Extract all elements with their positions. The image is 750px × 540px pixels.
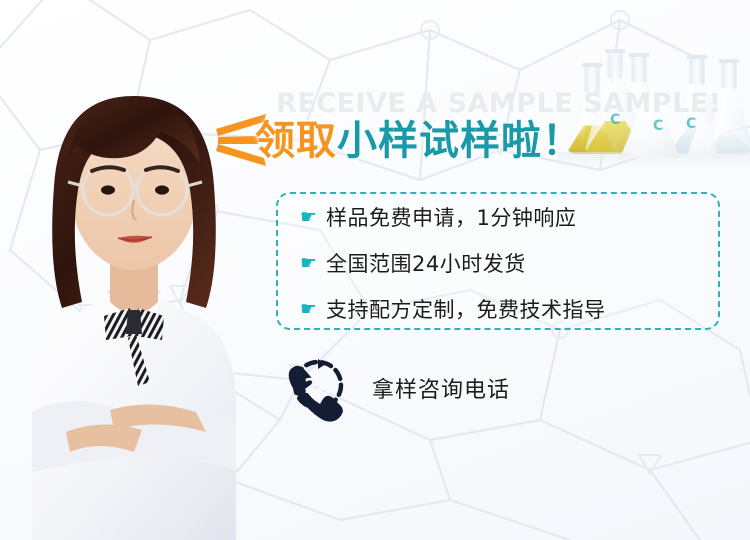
page-title: 领取小样试样啦！	[255, 108, 583, 166]
list-item: ☛ 样品免费申请，1分钟响应	[278, 194, 718, 240]
page-title-orange: 领取	[255, 118, 337, 164]
svg-text:24: 24	[304, 374, 332, 398]
feature-list-box: ☛ 样品免费申请，1分钟响应 ☛ 全国范围24小时发货 ☛ 支持配方定制，免费技…	[276, 192, 720, 330]
feature-text: 样品免费申请，1分钟响应	[326, 202, 576, 232]
contact-label: 拿样咨询电话	[372, 372, 510, 404]
list-item: ☛ 支持配方定制，免费技术指导	[278, 286, 718, 332]
feature-text: 全国范围24小时发货	[326, 248, 526, 278]
sample-request-banner: C C C	[0, 0, 750, 540]
phone-24h-icon: 24	[278, 352, 350, 424]
pointing-hand-icon: ☛	[300, 254, 326, 273]
pointing-hand-icon: ☛	[300, 208, 326, 227]
list-item: ☛ 全国范围24小时发货	[278, 240, 718, 286]
pointing-hand-icon: ☛	[300, 300, 326, 319]
contact-row: 24 拿样咨询电话	[278, 352, 510, 424]
feature-text: 支持配方定制，免费技术指导	[326, 294, 606, 324]
page-title-teal: 小样试样啦！	[337, 118, 583, 164]
